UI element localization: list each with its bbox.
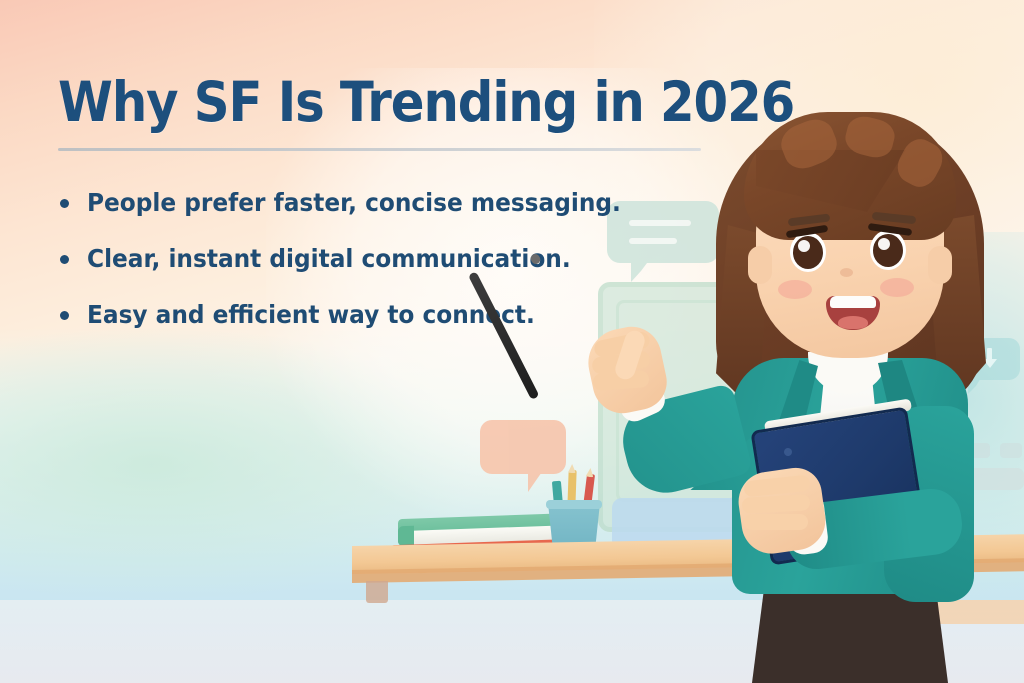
finger [744, 514, 808, 530]
bullet-dot-icon [60, 255, 69, 264]
nose [840, 268, 853, 277]
list-item: People prefer faster, concise messaging. [60, 186, 700, 242]
ear-right [928, 246, 952, 284]
ear-left [748, 246, 772, 284]
ghost-square-icon [1000, 443, 1022, 458]
list-item-label: Easy and efficient way to connect. [87, 298, 535, 332]
desk-leg [366, 581, 388, 603]
list-item: Clear, instant digital communication. [60, 242, 700, 298]
eye-highlight-left [798, 240, 810, 252]
eye-highlight-right [878, 238, 890, 250]
cheek-blush-right [880, 278, 914, 297]
cheek-blush-left [778, 280, 812, 299]
bullet-dot-icon [60, 311, 69, 320]
pencil-cup-rim [546, 500, 602, 509]
page-title: Why SF Is Trending in 2026 [58, 71, 673, 133]
bullet-dot-icon [60, 199, 69, 208]
title-divider [58, 148, 701, 151]
teeth [830, 296, 876, 308]
slide-canvas: Why SF Is Trending in 2026 People prefer… [0, 0, 1024, 683]
tongue [838, 316, 868, 329]
peach-speech-bubble-icon [480, 420, 566, 474]
list-item-label: People prefer faster, concise messaging. [87, 186, 621, 220]
list-item-label: Clear, instant digital communication. [87, 242, 571, 276]
green-book-spine [398, 526, 414, 547]
bullet-list: People prefer faster, concise messaging.… [60, 186, 700, 354]
